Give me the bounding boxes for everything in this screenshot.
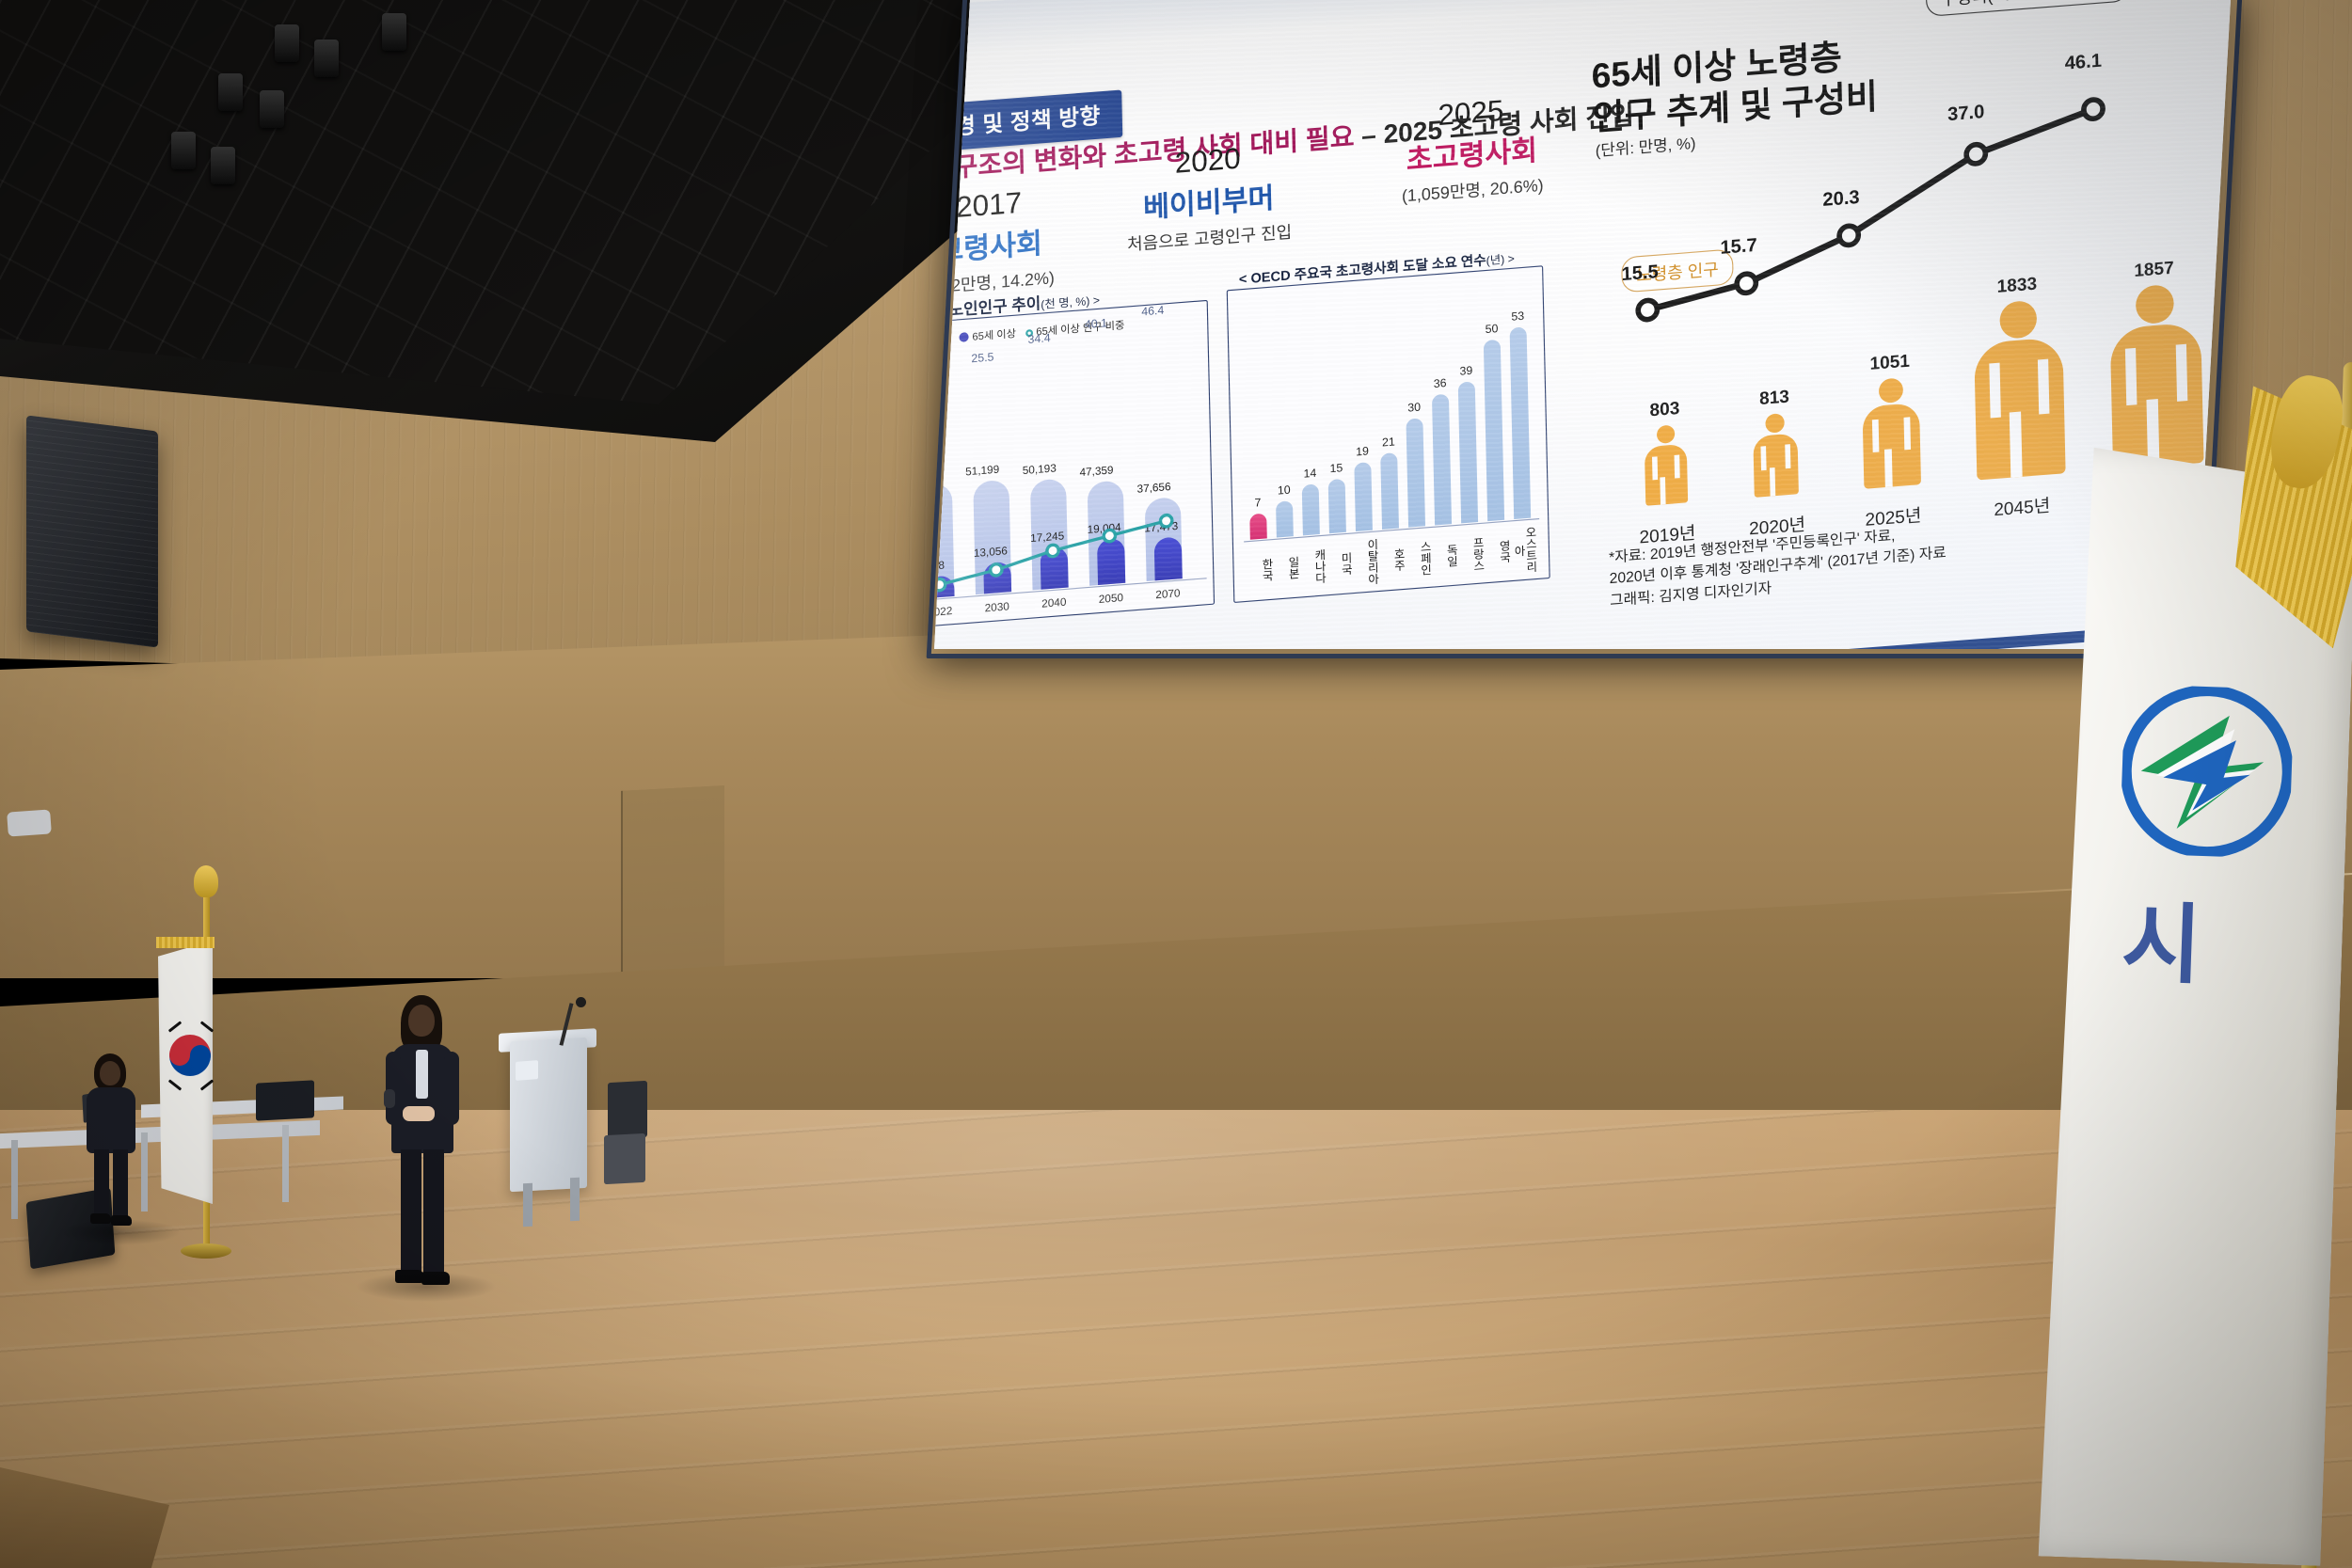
pictogram-value: 1833 [1953, 270, 2080, 301]
pictogram-column: 813 [1725, 384, 1825, 499]
pictogram-head [1765, 413, 1785, 434]
operator-torso [87, 1087, 135, 1153]
city-flag-text: 시 [2121, 900, 2209, 990]
bar-value [1380, 452, 1399, 530]
x-tick-label: 2040 [1029, 595, 1078, 611]
operator-leg [113, 1149, 128, 1217]
x-tick-label: 캐나다 [1299, 538, 1326, 594]
presenter-shadow [356, 1272, 497, 1302]
operator-head [100, 1061, 120, 1085]
pictogram-body [1862, 403, 1921, 489]
pictogram-value: 803 [1616, 395, 1714, 423]
bar-value [1249, 514, 1267, 540]
pictogram-value: 813 [1725, 384, 1823, 412]
ceiling-spotlight [171, 132, 196, 169]
bar-label: 30 [1402, 401, 1427, 415]
bar-label: 19 [1349, 445, 1375, 459]
person-pictogram [1857, 376, 1925, 489]
standing-presenter [382, 995, 467, 1296]
x-tick-label: 오스트리아 [1510, 522, 1536, 578]
seated-operator [81, 1053, 147, 1232]
pictogram-column: 803 [1616, 395, 1716, 508]
share-point-label: 40.1 [1085, 317, 1107, 331]
presentation-slide: 1. 배경 및 정책 방향 ◇인구구조의 변화와 초고령 사회 대비 필요 – … [934, 0, 2231, 649]
bar-value [1354, 462, 1373, 531]
chart-b-title-unit: (년) > [1486, 253, 1516, 268]
operator-leg [94, 1149, 109, 1217]
bar-value [1432, 394, 1452, 526]
ceiling-spotlight [218, 73, 243, 111]
microphone-handheld [384, 1089, 395, 1108]
bar-value [1510, 326, 1532, 519]
pictogram-column: 1051 [1836, 348, 1945, 491]
legend-item-65plus: 65세 이상 [960, 328, 1016, 344]
bar-value [1328, 479, 1346, 533]
slide-bottom-accent-bar [934, 615, 2231, 649]
presenter-inner-shirt [416, 1050, 428, 1099]
person-pictogram [1640, 423, 1692, 506]
bar-label: 21 [1375, 436, 1401, 450]
projection-screen: 1. 배경 및 정책 방향 ◇인구구조의 변화와 초고령 사회 대비 필요 – … [934, 0, 2231, 649]
x-tick-label: 2050 [1087, 591, 1136, 607]
timeline-item-2020: 2020 베이비부머 처음으로 고령인구 진입 [1075, 134, 1342, 259]
wall-camera [7, 809, 52, 836]
podium-microphone-head [576, 997, 586, 1007]
x-tick-label: 2030 [973, 599, 1022, 615]
bar-value [1276, 500, 1294, 537]
legend-swatch-65plus [960, 332, 969, 342]
x-tick-label: 프랑스 [1457, 526, 1484, 582]
ceiling-spotlight [314, 40, 339, 77]
x-tick-label: 2070 [1143, 586, 1192, 602]
share-point-label: 25.5 [971, 351, 993, 365]
timeline-item-2025: 2025 초고령사회 (1,059만명, 20.6%) [1343, 87, 1599, 212]
x-tick-label: 호주 [1378, 532, 1405, 589]
x-tick-label: 미국 [1326, 536, 1352, 593]
x-tick-label: 스페인 [1405, 530, 1431, 586]
x-tick-label: 일본 [1273, 540, 1299, 596]
chart-b-bars: 7 10 14 15 [1239, 308, 1539, 541]
presenter-arm-right [444, 1052, 459, 1125]
bar-label: 15 [1324, 462, 1349, 476]
badge-composition-ratio: 구성비(=65세 이상/전체) [1926, 0, 2130, 17]
bar-value [1484, 340, 1504, 521]
x-tick-label: 독일 [1431, 528, 1457, 584]
table-leg [282, 1125, 289, 1202]
chair [608, 1081, 647, 1139]
flag-finial [194, 865, 218, 897]
x-tick-label: 2022 [934, 604, 964, 620]
chart-a-share-line [934, 369, 1207, 600]
ceiling-spotlight [275, 24, 299, 62]
bar-label: 7 [1245, 496, 1270, 510]
ceiling-spotlight [211, 147, 235, 184]
pictogram-body [1753, 433, 1799, 497]
x-tick-label: 영국 [1484, 524, 1510, 580]
share-point-label: 34.4 [1027, 332, 1050, 346]
bar-value [1302, 483, 1320, 535]
bar-label: 10 [1271, 483, 1296, 498]
pictogram-head [1878, 377, 1902, 404]
person-pictogram [1968, 297, 2072, 481]
pictogram-body [1645, 444, 1688, 506]
presenter-leg [423, 1149, 444, 1274]
monitor [256, 1080, 314, 1120]
pictogram-head [1656, 425, 1674, 444]
person-pictogram [1748, 412, 1803, 498]
floor-reflection [0, 1110, 2352, 1568]
presenter-hands [403, 1106, 435, 1121]
presenter-leg [401, 1149, 421, 1274]
taegeuk-symbol-icon [169, 1035, 211, 1076]
bar-value [1406, 418, 1425, 527]
share-point-label: 46.4 [1141, 305, 1164, 319]
bar-value [1458, 381, 1478, 523]
ceiling-spotlight [260, 90, 284, 128]
bar-label: 14 [1297, 467, 1323, 481]
presenter-head [408, 1005, 435, 1037]
x-tick-label: 이탈리아 [1352, 534, 1378, 591]
podium-leg [523, 1183, 532, 1227]
ceiling-spotlight [382, 13, 406, 51]
pictogram-head [1999, 300, 2037, 340]
flag-fringe [156, 937, 215, 948]
operator-shadow [58, 1219, 181, 1245]
bar-label: 53 [1505, 309, 1531, 324]
bar-label: 36 [1427, 376, 1453, 390]
table-leg [11, 1140, 18, 1219]
legend-label-65plus: 65세 이상 [972, 328, 1016, 343]
loudspeaker-grill [26, 415, 158, 647]
bar-label: 39 [1454, 364, 1479, 378]
x-tick-label: 한국 [1246, 542, 1272, 598]
podium-leg [570, 1178, 580, 1222]
city-emblem-icon [2120, 684, 2295, 859]
chart-oecd-years-to-super-aged: 7 10 14 15 [1227, 265, 1550, 603]
water-cup [516, 1060, 538, 1081]
conference-hall-photo: 1. 배경 및 정책 방향 ◇인구구조의 변화와 초고령 사회 대비 필요 – … [0, 0, 2352, 1568]
chair [604, 1133, 645, 1184]
ratio-point-label: 46.1 [2064, 50, 2102, 74]
chart-elderly-population-trend: 총 인구65세 이상65세 이상 인구 비중 51,628 9,018 [934, 300, 1215, 629]
pictogram-body [1974, 337, 2066, 480]
city-emblem-flag-assembly: 시 [2019, 277, 2352, 1568]
bar-label: 50 [1479, 322, 1504, 336]
presenter-arm-left [386, 1052, 401, 1125]
pictogram-value: 1051 [1836, 348, 1943, 377]
flag-base [181, 1243, 231, 1259]
ratio-point-label: 37.0 [1947, 101, 1985, 125]
